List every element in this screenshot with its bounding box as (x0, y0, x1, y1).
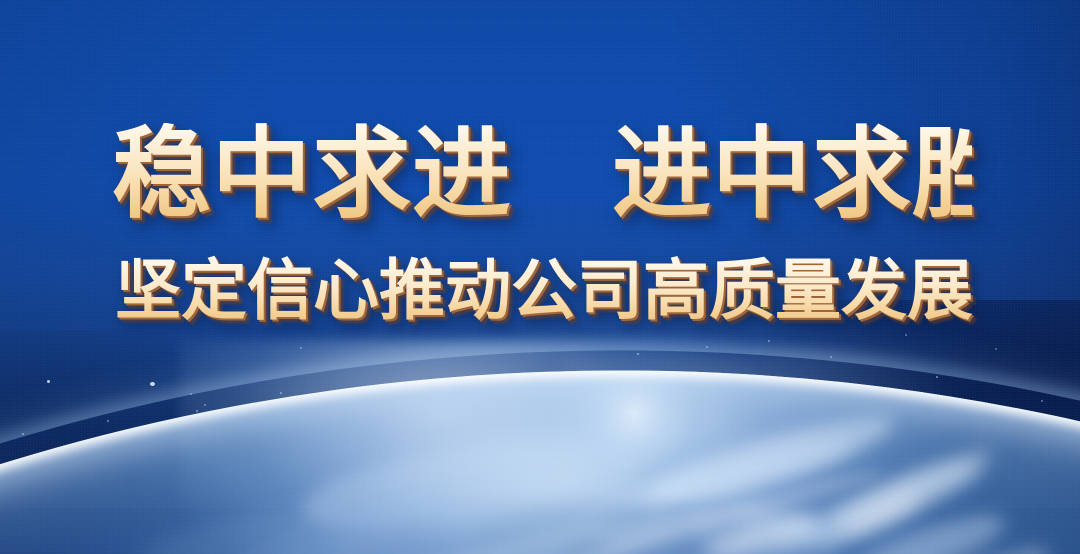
poster-headline: 稳中求进 进中求胜 (112, 123, 972, 227)
text-layer: 稳中求进 进中求胜 坚定信心推动公司高质量发展 (0, 0, 1080, 554)
poster-banner: 稳中求进 进中求胜 坚定信心推动公司高质量发展 (0, 0, 1080, 554)
poster-subheadline: 坚定信心推动公司高质量发展 (115, 255, 995, 327)
